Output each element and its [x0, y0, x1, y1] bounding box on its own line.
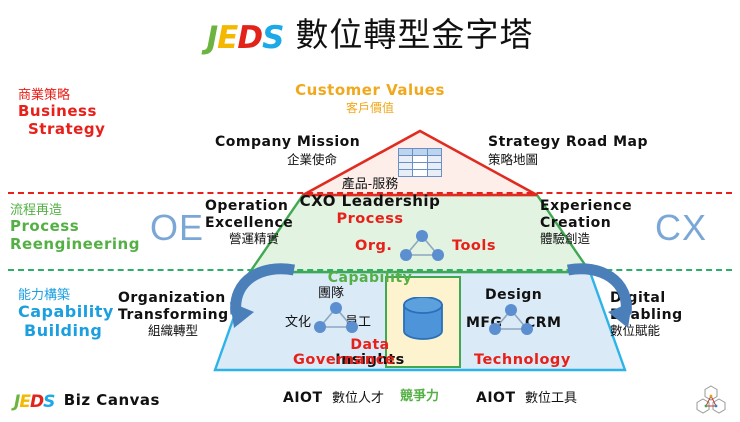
- label-organization-transforming-en2: Transforming: [118, 307, 229, 324]
- bottom-left-governance-label: Governance: [293, 352, 395, 369]
- label-strategy-road-map: Strategy Road Map 策略地圖: [488, 134, 648, 167]
- rail-process-reengineering-en2: Reengineering: [10, 236, 140, 254]
- footer-biz-canvas-text: Biz Canvas: [64, 391, 160, 409]
- footer-left-aiot-cjk: 數位人才: [332, 391, 384, 406]
- middle-band-process-label: Process: [0, 211, 740, 228]
- apex-headline: Customer Values 客戶價值: [0, 82, 740, 115]
- slide-canvas: JEDS數位轉型金字塔 商業策略 Business Strategy 流程再造 …: [0, 0, 740, 422]
- footer-jeds-letter-e: E: [19, 392, 30, 412]
- footer-left-aiot-en: AIOT: [283, 390, 323, 406]
- footer-right-aiot: AIOT 數位工具: [476, 389, 577, 408]
- rail-capability-building-en1: Capability: [18, 303, 114, 322]
- footer-right-aiot-cjk: 數位工具: [525, 391, 577, 406]
- apex-headline-en: Customer Values: [0, 82, 740, 100]
- footer-left-aiot: AIOT 數位人才: [283, 389, 384, 408]
- label-organization-transforming-en1: Organization: [118, 290, 229, 307]
- trefoil-hexagon-logo: [694, 384, 728, 416]
- middle-band-tools-label: Tools: [452, 238, 496, 255]
- footer-jeds-logo-text: JEDS: [14, 392, 54, 412]
- footer-right-aiot-en: AIOT: [476, 390, 516, 406]
- governance-triangle-nodes-icon: [312, 300, 360, 334]
- footer-jeds-letter-s: S: [43, 392, 54, 412]
- bottom-right-technology-label: Technology: [474, 352, 571, 369]
- rail-capability-building-cjk: 能力構築: [18, 288, 114, 303]
- label-strategy-road-map-cjk: 策略地圖: [488, 153, 648, 168]
- label-experience-creation-cjk: 體驗創造: [540, 232, 632, 247]
- technology-triangle-nodes-icon: [487, 302, 535, 336]
- label-operation-excellence-cjk: 營運精實: [229, 232, 293, 247]
- apex-caption: 產品-服務: [0, 177, 740, 192]
- table-grid-icon: [398, 148, 442, 175]
- footer-jeds-biz-canvas: JEDS Biz Canvas: [14, 392, 160, 412]
- footer-center-competitiveness: 競爭力: [400, 389, 439, 404]
- middle-band-org-label: Org.: [355, 238, 392, 255]
- label-company-mission-cjk: 企業使命: [287, 153, 360, 168]
- right-transform-arrow-icon: [556, 258, 634, 330]
- rail-business-strategy-en2: Strategy: [28, 121, 105, 139]
- rail-capability-building: 能力構築 Capability Building: [18, 288, 114, 341]
- left-transform-arrow-icon: [228, 258, 306, 330]
- database-cylinder-icon: [401, 297, 445, 341]
- middle-triangle-nodes-icon: [398, 228, 446, 262]
- middle-band-header: CXO Leadership: [0, 193, 740, 211]
- label-organization-transforming: Organization Transforming 組織轉型: [118, 290, 229, 339]
- footer-jeds-letter-d: D: [30, 392, 43, 412]
- label-strategy-road-map-en: Strategy Road Map: [488, 134, 648, 151]
- label-company-mission: Company Mission 企業使命: [215, 134, 360, 167]
- apex-headline-cjk: 客戶價值: [0, 101, 740, 115]
- label-company-mission-en: Company Mission: [215, 134, 360, 151]
